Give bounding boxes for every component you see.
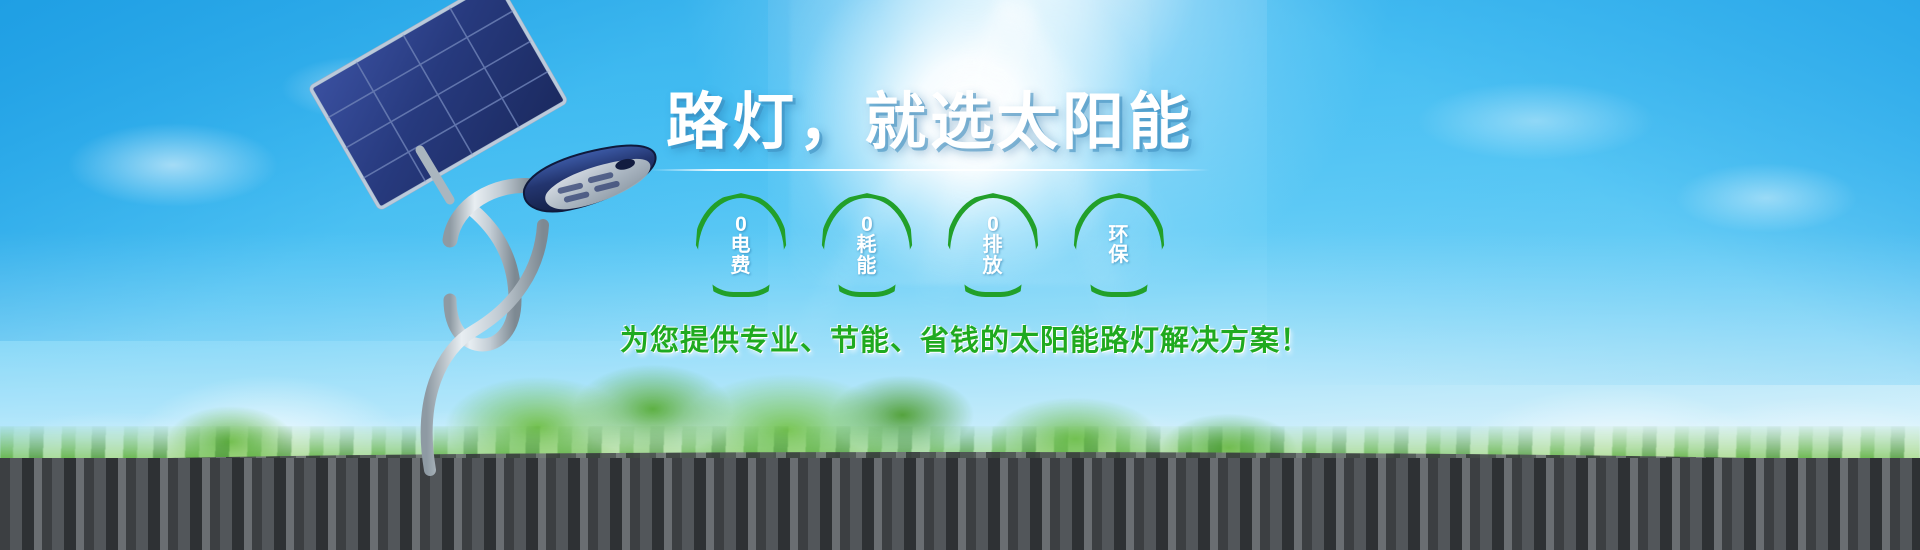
badge-number: 0 (735, 214, 747, 235)
headline-divider (650, 169, 1210, 171)
feature-badge-haoneng: 0 耗 能 (819, 193, 915, 297)
badge-label-line2: 保 (1109, 245, 1130, 265)
badge-label-line1: 电 (731, 235, 752, 255)
banner-copy: 路灯，就选太阳能 0 电 费 0 耗 能 0 排 放 环 保 (620, 90, 1240, 359)
feature-badge-paifang: 0 排 放 (945, 193, 1041, 297)
badge-label-line2: 能 (857, 256, 878, 276)
banner-tagline: 为您提供专业、节能、省钱的太阳能路灯解决方案！ (620, 317, 1240, 359)
badge-number: 0 (861, 214, 873, 235)
feature-badge-dianfei: 0 电 费 (693, 193, 789, 297)
badge-label-line1: 环 (1109, 225, 1130, 245)
badge-label-line1: 耗 (857, 235, 878, 255)
feature-badge-row: 0 电 费 0 耗 能 0 排 放 环 保 (620, 193, 1240, 297)
badge-number: 0 (987, 214, 999, 235)
banner-headline: 路灯，就选太阳能 (620, 90, 1240, 155)
tiled-roof (0, 458, 1920, 550)
badge-label-line2: 费 (731, 256, 752, 276)
solar-street-lamp-banner: 路灯，就选太阳能 0 电 费 0 耗 能 0 排 放 环 保 (0, 0, 1920, 550)
feature-badge-huanbao: 环 保 (1071, 193, 1167, 297)
badge-label-line2: 放 (983, 256, 1004, 276)
badge-label-line1: 排 (983, 235, 1004, 255)
